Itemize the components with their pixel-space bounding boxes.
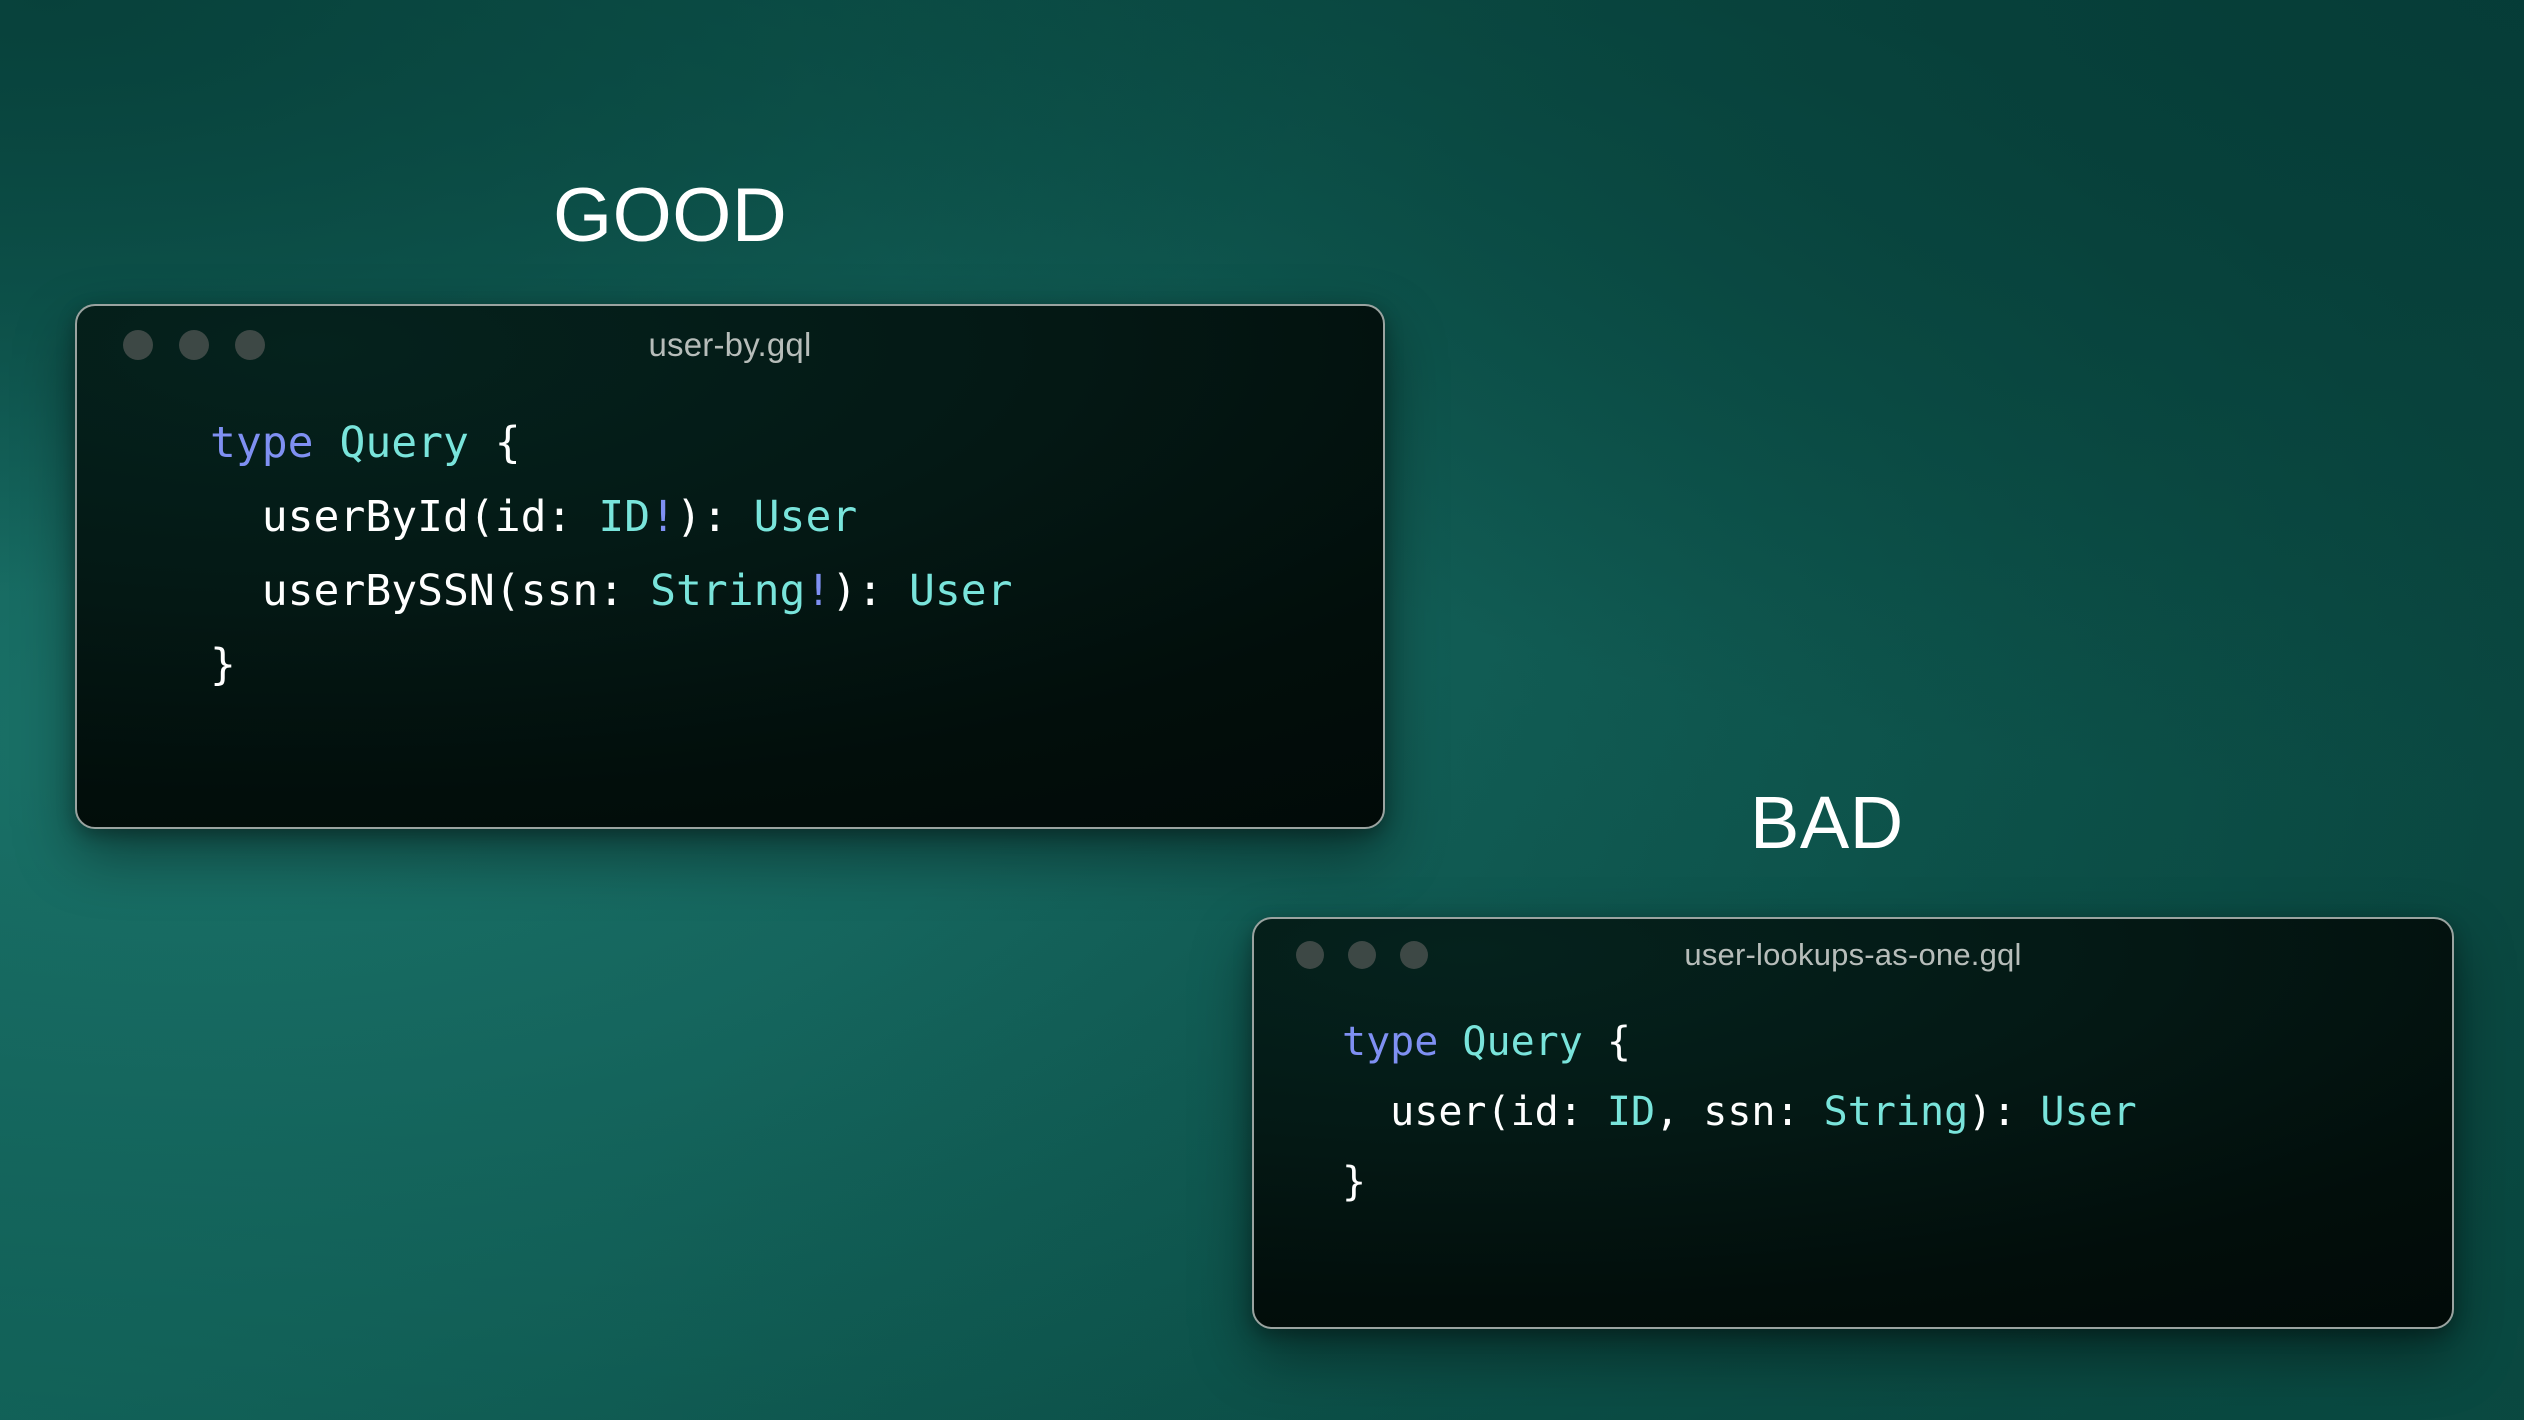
code-token-plain: , ssn: <box>1655 1089 1824 1135</box>
code-token-type: User <box>2040 1089 2136 1135</box>
close-dot-icon[interactable] <box>1296 941 1324 969</box>
code-token-type: User <box>909 566 1013 616</box>
code-token-plain: ): <box>676 492 754 542</box>
code-token-bang: ! <box>805 566 831 616</box>
code-window-bad: user-lookups-as-one.gql type Query { use… <box>1252 917 2454 1329</box>
code-token-type: String <box>1824 1089 1969 1135</box>
code-token-plain: ): <box>831 566 909 616</box>
code-line: type Query { <box>210 406 1383 480</box>
code-token-plain <box>1438 1019 1462 1065</box>
code-token-keyword: type <box>1342 1019 1438 1065</box>
code-token-plain: ): <box>1968 1089 2040 1135</box>
maximize-dot-icon[interactable] <box>235 330 265 360</box>
code-line: } <box>210 628 1383 702</box>
code-line: user(id: ID, ssn: String): User <box>1342 1077 2452 1147</box>
code-token-type: ID <box>1607 1089 1655 1135</box>
code-line: userById(id: ID!): User <box>210 480 1383 554</box>
code-block: type Query { userById(id: ID!): User use… <box>77 384 1383 702</box>
code-token-type: Query <box>339 418 468 468</box>
code-token-type: ID <box>598 492 650 542</box>
traffic-light-group <box>77 330 265 360</box>
window-title: user-by.gql <box>77 326 1383 364</box>
code-token-plain: user(id: <box>1342 1089 1607 1135</box>
window-title: user-lookups-as-one.gql <box>1254 937 2452 973</box>
window-titlebar: user-by.gql <box>77 306 1383 384</box>
code-token-bang: ! <box>650 492 676 542</box>
code-token-punctuation: { <box>1583 1019 1631 1065</box>
slide-canvas: GOOD BAD user-by.gql type Query { userBy… <box>0 0 2524 1420</box>
minimize-dot-icon[interactable] <box>179 330 209 360</box>
code-token-keyword: type <box>210 418 314 468</box>
code-window-good: user-by.gql type Query { userById(id: ID… <box>75 304 1385 829</box>
code-token-punctuation: } <box>1342 1159 1366 1205</box>
code-token-plain <box>314 418 340 468</box>
maximize-dot-icon[interactable] <box>1400 941 1428 969</box>
code-line: type Query { <box>1342 1007 2452 1077</box>
code-line: } <box>1342 1147 2452 1217</box>
code-token-type: User <box>754 492 858 542</box>
code-token-plain: userBySSN(ssn: <box>210 566 650 616</box>
code-token-type: String <box>650 566 805 616</box>
code-token-plain: userById(id: <box>210 492 598 542</box>
code-line: userBySSN(ssn: String!): User <box>210 554 1383 628</box>
code-token-type: Query <box>1462 1019 1582 1065</box>
traffic-light-group <box>1254 941 1428 969</box>
window-titlebar: user-lookups-as-one.gql <box>1254 919 2452 991</box>
bad-example-label: BAD <box>1750 786 1904 860</box>
code-token-punctuation: } <box>210 640 236 690</box>
good-example-label: GOOD <box>553 178 787 254</box>
close-dot-icon[interactable] <box>123 330 153 360</box>
code-token-punctuation: { <box>469 418 521 468</box>
code-block: type Query { user(id: ID, ssn: String): … <box>1254 991 2452 1217</box>
minimize-dot-icon[interactable] <box>1348 941 1376 969</box>
